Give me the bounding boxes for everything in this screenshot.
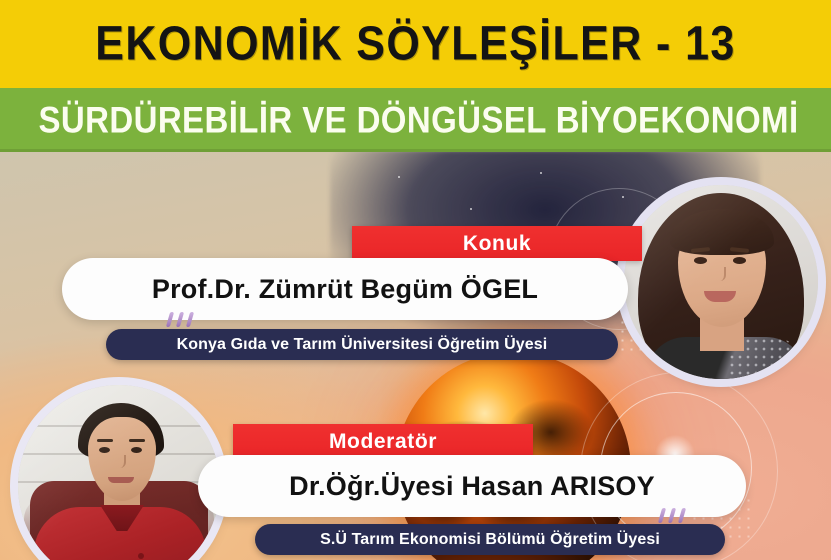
guest-name: Prof.Dr. Zümrüt Begüm ÖGEL (152, 274, 538, 305)
eyebrow-left (97, 439, 113, 442)
tick-mark (658, 508, 666, 523)
moderator-affiliation-pill: S.Ü Tarım Ekonomisi Bölümü Öğretim Üyesi (255, 524, 725, 555)
tick-marks-decoration (168, 312, 192, 327)
moderator-role-label: Moderatör (329, 430, 437, 454)
eye-right (131, 447, 142, 453)
guest-avatar (624, 185, 818, 379)
shirt-button (138, 553, 144, 559)
guest-affiliation: Konya Gıda ve Tarım Üniversitesi Öğretim… (177, 336, 548, 354)
event-subtitle: SÜRDÜREBİLİR VE DÖNGÜSEL BİYOEKONOMİ (32, 99, 798, 142)
event-title: EKONOMİK SÖYLEŞİLER - 13 (95, 17, 735, 72)
star-dot (540, 172, 542, 174)
star-dot (470, 208, 472, 210)
moderator-role-banner: Moderatör (233, 424, 533, 459)
guest-role-label: Konuk (463, 232, 531, 256)
tick-mark (176, 312, 184, 327)
tick-mark (166, 312, 174, 327)
moderator-affiliation: S.Ü Tarım Ekonomisi Bölümü Öğretim Üyesi (320, 531, 660, 549)
eye-left (99, 447, 110, 453)
star-dot (398, 176, 400, 178)
event-poster: EKONOMİK SÖYLEŞİLER - 13 SÜRDÜREBİLİR VE… (0, 0, 831, 560)
moderator-name: Dr.Öğr.Üyesi Hasan ARISOY (289, 471, 655, 502)
mouth-shape (108, 477, 134, 483)
eye-left (694, 257, 707, 264)
eyebrow-right (129, 439, 145, 442)
nose-shape (716, 267, 726, 281)
moderator-avatar (18, 385, 220, 560)
guest-name-card: Prof.Dr. Zümrüt Begüm ÖGEL (62, 258, 628, 320)
tick-marks-decoration (660, 508, 684, 523)
guest-affiliation-pill: Konya Gıda ve Tarım Üniversitesi Öğretim… (106, 329, 618, 360)
tick-mark (668, 508, 676, 523)
eye-right (733, 257, 746, 264)
title-banner: EKONOMİK SÖYLEŞİLER - 13 (0, 0, 831, 88)
guest-role-banner: Konuk (352, 226, 642, 261)
subtitle-banner: SÜRDÜREBİLİR VE DÖNGÜSEL BİYOEKONOMİ (0, 88, 831, 152)
